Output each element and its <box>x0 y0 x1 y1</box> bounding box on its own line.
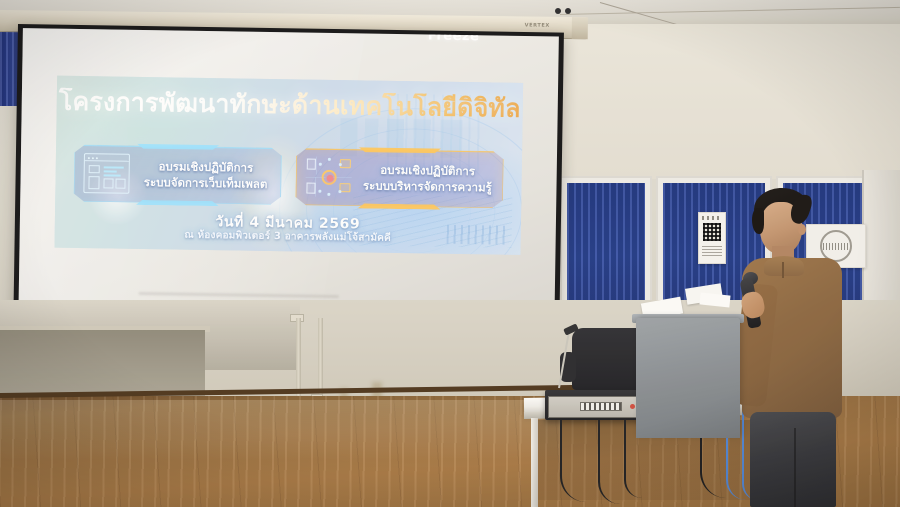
back-wall-upper-right <box>560 24 900 179</box>
equipment-cable <box>598 418 620 504</box>
amplifier-knob[interactable] <box>565 8 571 14</box>
poster-header <box>702 216 722 220</box>
housing-cap <box>572 17 588 39</box>
slide-card-web-template: อบรมเชิงปฏิบัติการ ระบบจัดการเว็บเท็มเพล… <box>74 145 282 205</box>
presenter-ear <box>798 224 806 235</box>
amplifier-knob[interactable] <box>555 8 561 14</box>
presenter-hair-side <box>752 208 764 234</box>
amplifier-rca-jack[interactable] <box>630 404 635 409</box>
slide-card-row: อบรมเชิงปฏิบัติการ ระบบจัดการเว็บเท็มเพล… <box>74 145 504 209</box>
card-text-block: อบรมเชิงปฏิบัติการ ระบบจัดการเว็บเท็มเพล… <box>140 158 272 193</box>
presenter-trousers <box>750 412 836 507</box>
qr-code-icon <box>703 223 721 241</box>
projection-screen: Freeze โครงการพัฒนาทักษะด้านเทคโนโลยีดิจ… <box>13 24 563 320</box>
webpage-wireframe-icon <box>84 153 131 194</box>
sweater-collar <box>764 256 804 276</box>
poster-text <box>702 244 722 256</box>
card-text-block: อบรมเชิงปฏิบัติการ ระบบบริหารจัดการความร… <box>362 161 494 196</box>
presenter <box>736 180 856 507</box>
slide-card-knowledge-management: อบรมเชิงปฏิบัติการ ระบบบริหารจัดการความร… <box>295 148 503 208</box>
knowledge-network-icon <box>306 157 353 198</box>
card-line-1: อบรมเชิงปฏิบัติการ <box>362 161 493 179</box>
presentation-slide: โครงการพัฒนาทักษะด้านเทคโนโลยีดิจิทัล <box>54 75 523 255</box>
qr-code-poster <box>698 212 726 264</box>
trouser-seam <box>794 428 796 507</box>
amplifier-slider-bank[interactable] <box>580 402 622 411</box>
card-line-1: อบรมเชิงปฏิบัติการ <box>140 158 271 176</box>
table-leg <box>531 418 538 507</box>
wall-conduit-pipe <box>296 318 301 396</box>
wall-alcove <box>0 330 205 400</box>
projector-freeze-indicator: Freeze <box>428 28 480 44</box>
screen-brand-label: VERTEX <box>525 22 550 28</box>
sweater-zipper <box>782 262 784 278</box>
card-line-2: ระบบจัดการเว็บเท็มเพลต <box>140 174 271 192</box>
screen-smudge <box>139 292 339 298</box>
gray-podium <box>636 318 740 438</box>
photo-scene: VERTEX Freeze โครงการพัฒนาทักษะด้านเทคโน… <box>0 0 900 507</box>
equipment-cable <box>560 418 586 502</box>
card-line-2: ระบบบริหารจัดการความรู้ <box>362 177 493 195</box>
floor-reflection <box>0 400 560 460</box>
screen-surface: Freeze โครงการพัฒนาทักษะด้านเทคโนโลยีดิจ… <box>19 28 559 310</box>
